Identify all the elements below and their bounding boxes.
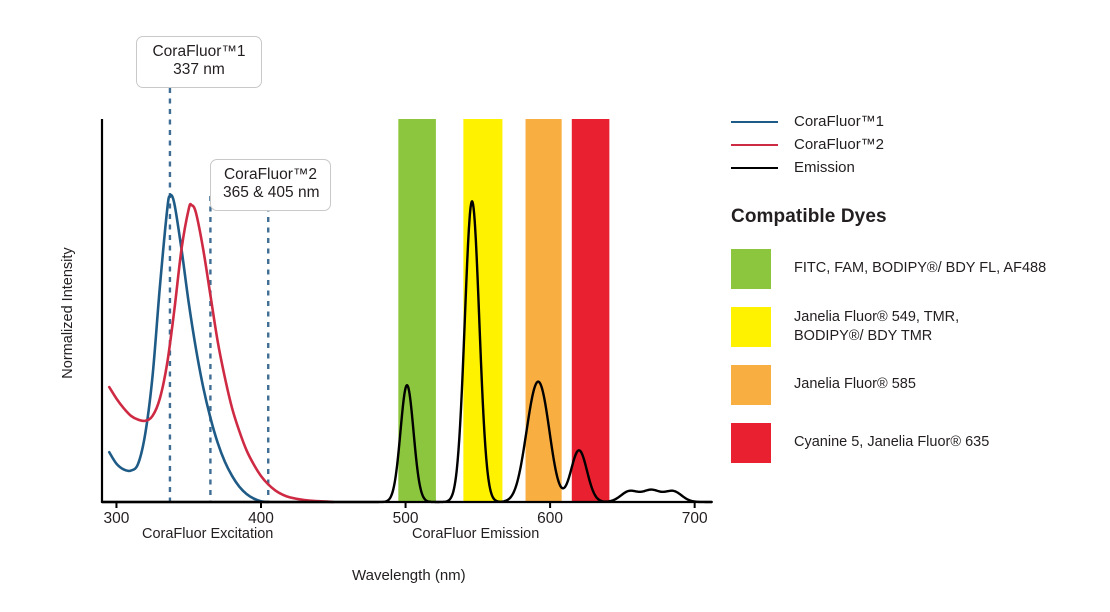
dye-label: Janelia Fluor® 585: [794, 375, 916, 394]
legend-line-swatch-corafluor1: [731, 121, 778, 123]
callout-corafluor1-title: CoraFluor™1: [149, 43, 249, 61]
x-tick-label-400: 400: [231, 510, 291, 528]
callout-corafluor2-value: 365 & 405 nm: [223, 184, 318, 202]
curve-352: [109, 204, 333, 502]
marker-lines: [170, 88, 268, 502]
callout-corafluor2-title: CoraFluor™2: [223, 166, 318, 184]
dye-legend-row: Cyanine 5, Janelia Fluor® 635: [731, 417, 1101, 469]
legend: CoraFluor™1 CoraFluor™2 Emission Compati…: [731, 110, 1101, 475]
legend-item-corafluor2: CoraFluor™2: [731, 133, 1101, 156]
dye-color-swatch: [731, 423, 771, 463]
legend-label-corafluor1: CoraFluor™1: [794, 113, 884, 130]
dye-label: FITC, FAM, BODIPY®/ BDY FL, AF488: [794, 259, 1046, 278]
compatible-dyes-list: FITC, FAM, BODIPY®/ BDY FL, AF488Janelia…: [731, 243, 1101, 469]
dye-label: Cyanine 5, Janelia Fluor® 635: [794, 433, 989, 452]
dye-color-swatch: [731, 307, 771, 347]
legend-label-corafluor2: CoraFluor™2: [794, 136, 884, 153]
legend-line-swatch-corafluor2: [731, 144, 778, 146]
callout-corafluor1-value: 337 nm: [149, 61, 249, 79]
dye-legend-row: FITC, FAM, BODIPY®/ BDY FL, AF488: [731, 243, 1101, 295]
curve-337: [109, 195, 268, 502]
axis-region-label-emission: CoraFluor Emission: [412, 526, 539, 542]
dye-label: Janelia Fluor® 549, TMR,BODIPY®/ BDY TMR: [794, 308, 959, 346]
y-axis-title: Normalized Intensity: [60, 223, 76, 403]
legend-line-swatch-emission: [731, 167, 778, 169]
green-band: [398, 119, 436, 503]
dye-legend-row: Janelia Fluor® 549, TMR,BODIPY®/ BDY TMR: [731, 301, 1101, 353]
callout-corafluor1: CoraFluor™1 337 nm: [136, 36, 262, 88]
orange-band: [526, 119, 562, 503]
x-tick-label-500: 500: [376, 510, 436, 528]
red-band: [572, 119, 610, 503]
emission-bands: [398, 119, 609, 503]
dye-legend-row: Janelia Fluor® 585: [731, 359, 1101, 411]
legend-item-corafluor1: CoraFluor™1: [731, 110, 1101, 133]
x-tick-label-700: 700: [665, 510, 725, 528]
x-tick-label-300: 300: [86, 510, 146, 528]
yellow-band: [463, 119, 502, 503]
legend-item-emission: Emission: [731, 156, 1101, 179]
dye-color-swatch: [731, 365, 771, 405]
callout-corafluor2: CoraFluor™2 365 & 405 nm: [210, 159, 331, 211]
axis-region-label-excitation: CoraFluor Excitation: [142, 526, 273, 542]
dye-color-swatch: [731, 249, 771, 289]
legend-label-emission: Emission: [794, 159, 855, 176]
spectra-figure: CoraFluor™1 337 nm CoraFluor™2 365 & 405…: [0, 0, 1110, 612]
x-axis-title: Wavelength (nm): [352, 567, 466, 584]
x-tick-label-600: 600: [520, 510, 580, 528]
compatible-dyes-title: Compatible Dyes: [731, 206, 1101, 228]
